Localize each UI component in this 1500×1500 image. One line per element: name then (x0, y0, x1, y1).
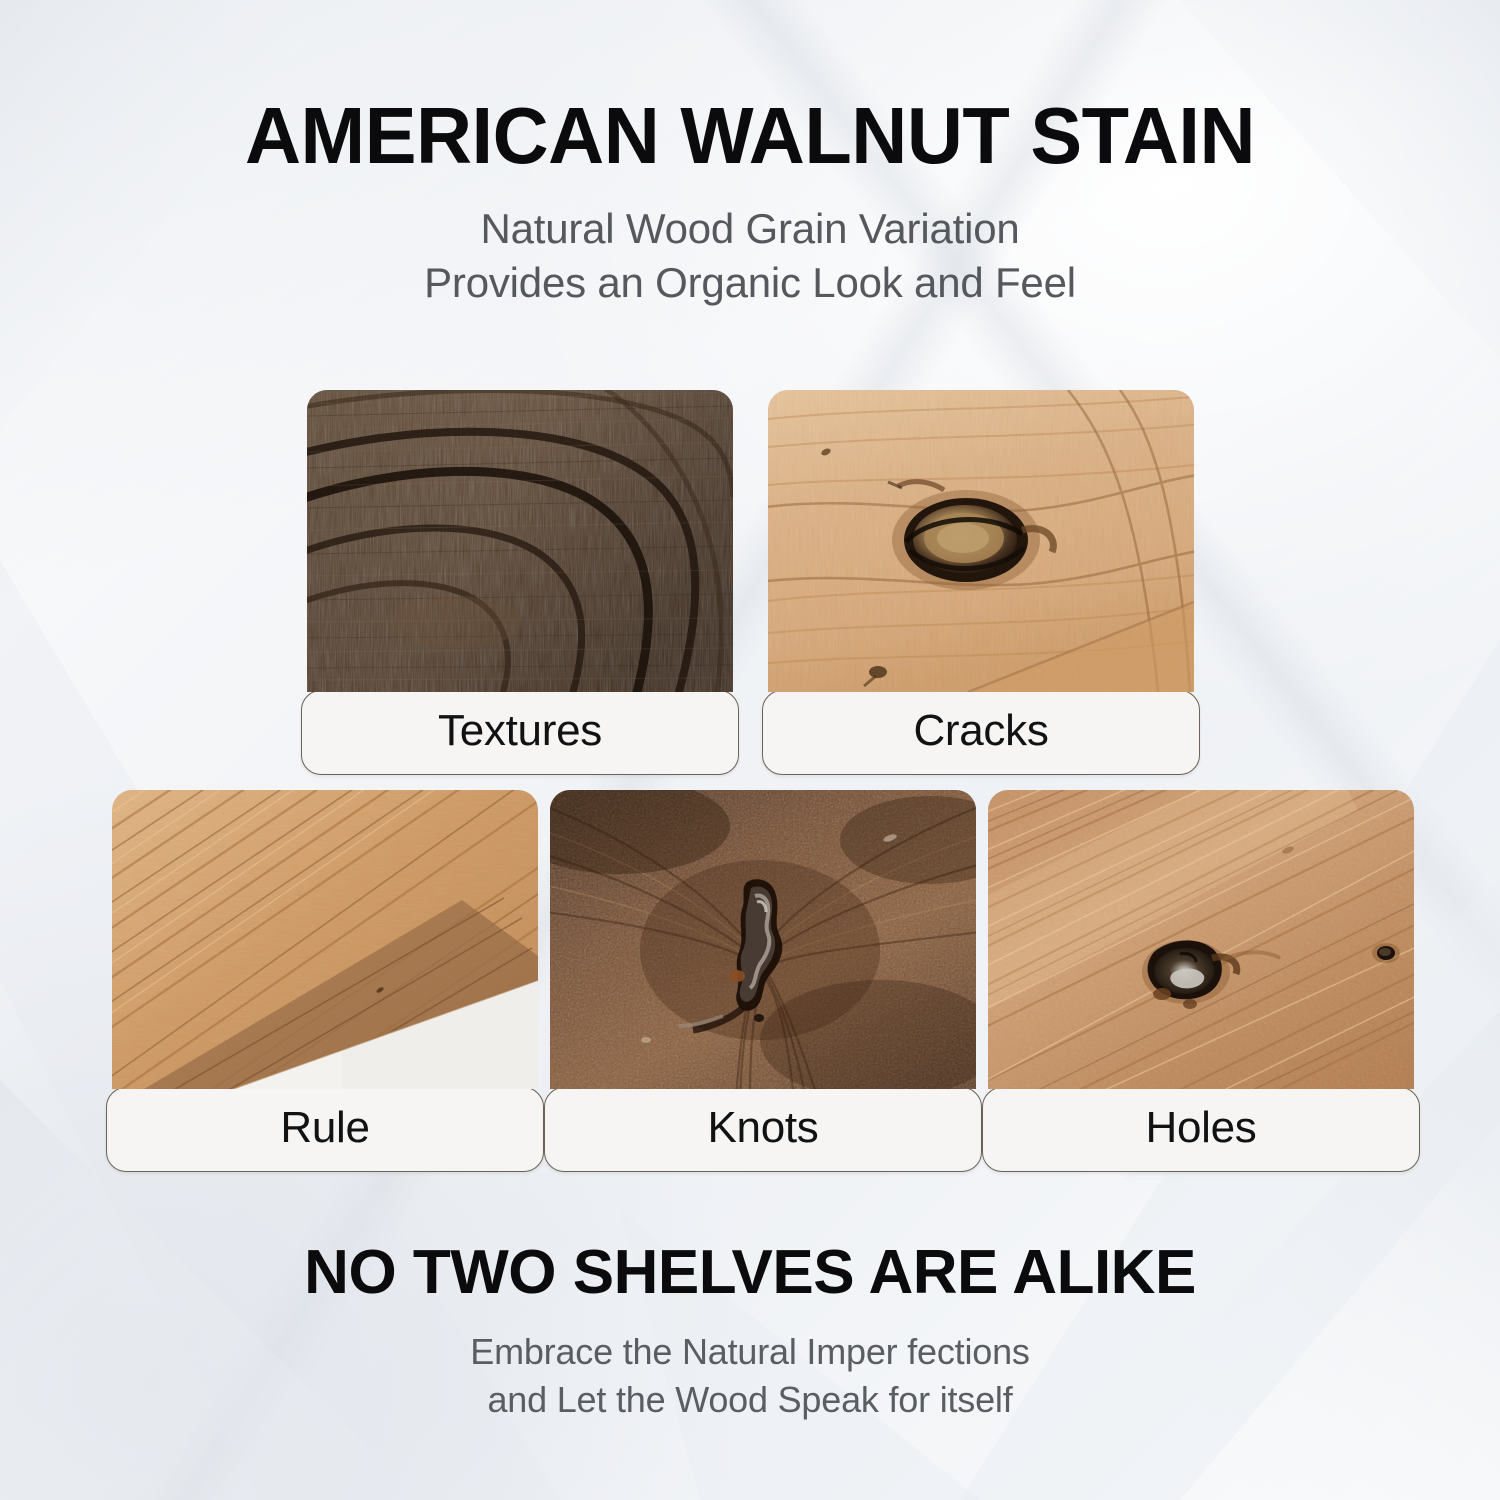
feature-card-rule[interactable]: Rule (112, 790, 538, 1175)
card-label-holes: Holes (982, 1087, 1420, 1172)
page-subtitle: Natural Wood Grain Variation Provides an… (0, 202, 1500, 310)
footer-block: NO TWO SHELVES ARE ALIKE Embrace the Nat… (0, 1242, 1500, 1423)
feature-card-cracks[interactable]: Cracks (768, 390, 1194, 775)
card-label-text: Knots (707, 1106, 818, 1150)
footer-subtitle-line-1: Embrace the Natural Imper fections (0, 1328, 1500, 1376)
wood-hole-defect-photo (988, 790, 1414, 1089)
feature-card-holes[interactable]: Holes (988, 790, 1414, 1175)
light-wood-knot-crack-photo (768, 390, 1194, 692)
card-label-knots: Knots (544, 1087, 982, 1172)
card-label-text: Holes (1146, 1106, 1257, 1150)
wood-plank-straight-edge-photo (112, 790, 538, 1089)
footer-title: NO TWO SHELVES ARE ALIKE (0, 1242, 1500, 1304)
footer-subtitle: Embrace the Natural Imper fections and L… (0, 1328, 1500, 1423)
card-label-cracks: Cracks (762, 690, 1200, 775)
dark-walnut-arc-grain-photo (307, 390, 733, 692)
page-subtitle-line-2: Provides an Organic Look and Feel (0, 256, 1500, 310)
dark-wood-knot-photo (550, 790, 976, 1089)
page-title: AMERICAN WALNUT STAIN (23, 96, 1478, 176)
card-label-text: Textures (438, 709, 602, 753)
feature-card-knots[interactable]: Knots (550, 790, 976, 1175)
promo-infographic-page: AMERICAN WALNUT STAIN Natural Wood Grain… (0, 0, 1500, 1500)
page-subtitle-line-1: Natural Wood Grain Variation (0, 202, 1500, 256)
feature-card-textures[interactable]: Textures (307, 390, 733, 775)
footer-subtitle-line-2: and Let the Wood Speak for itself (0, 1376, 1500, 1424)
card-label-rule: Rule (106, 1087, 544, 1172)
card-label-text: Cracks (913, 709, 1048, 753)
card-label-textures: Textures (301, 690, 739, 775)
card-label-text: Rule (280, 1106, 369, 1150)
header-block: AMERICAN WALNUT STAIN Natural Wood Grain… (0, 96, 1500, 310)
